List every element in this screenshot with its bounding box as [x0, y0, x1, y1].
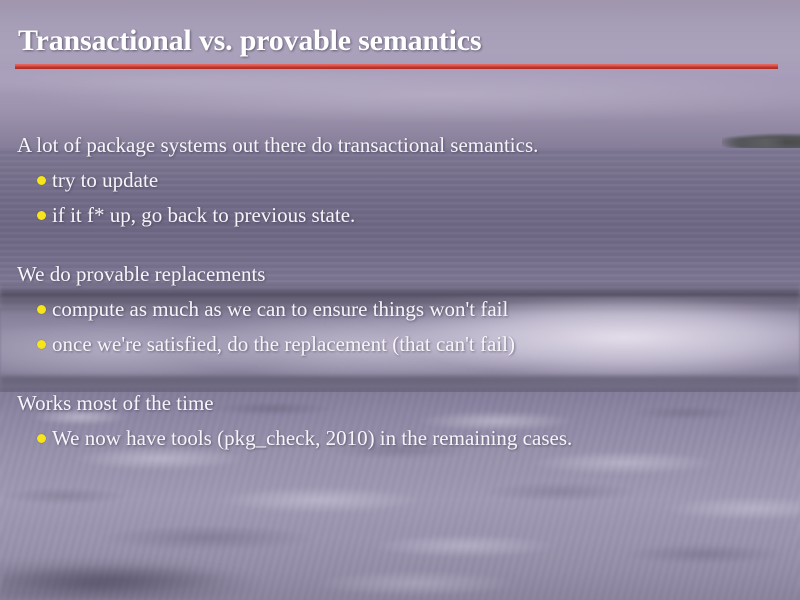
list-item: if it f* up, go back to previous state. [0, 198, 800, 233]
block-lead-text: A lot of package systems out there do tr… [0, 128, 800, 163]
content-block: Works most of the time We now have tools… [0, 386, 800, 456]
bullet-text: try to update [52, 168, 158, 192]
bullet-text: if it f* up, go back to previous state. [52, 203, 355, 227]
bullet-list: compute as much as we can to ensure thin… [0, 292, 800, 362]
bullet-text: compute as much as we can to ensure thin… [52, 297, 508, 321]
bullet-dot-icon [37, 176, 46, 185]
list-item: once we're satisfied, do the replacement… [0, 327, 800, 362]
bullet-dot-icon [37, 340, 46, 349]
bullet-dot-icon [37, 211, 46, 220]
slide-title: Transactional vs. provable semantics [18, 24, 481, 58]
list-item: compute as much as we can to ensure thin… [0, 292, 800, 327]
bullet-dot-icon [37, 305, 46, 314]
content-block: We do provable replacements compute as m… [0, 257, 800, 362]
slide-content: Transactional vs. provable semantics A l… [0, 0, 800, 600]
content-block: A lot of package systems out there do tr… [0, 128, 800, 233]
block-lead-text: We do provable replacements [0, 257, 800, 292]
bullet-list: We now have tools (pkg_check, 2010) in t… [0, 421, 800, 456]
list-item: We now have tools (pkg_check, 2010) in t… [0, 421, 800, 456]
presentation-slide: Transactional vs. provable semantics A l… [0, 0, 800, 600]
slide-body: A lot of package systems out there do tr… [0, 128, 800, 456]
bullet-text: once we're satisfied, do the replacement… [52, 332, 515, 356]
bullet-dot-icon [37, 434, 46, 443]
title-underline-rule [15, 64, 778, 69]
block-lead-text: Works most of the time [0, 386, 800, 421]
list-item: try to update [0, 163, 800, 198]
bullet-list: try to update if it f* up, go back to pr… [0, 163, 800, 233]
bullet-text: We now have tools (pkg_check, 2010) in t… [52, 426, 572, 450]
